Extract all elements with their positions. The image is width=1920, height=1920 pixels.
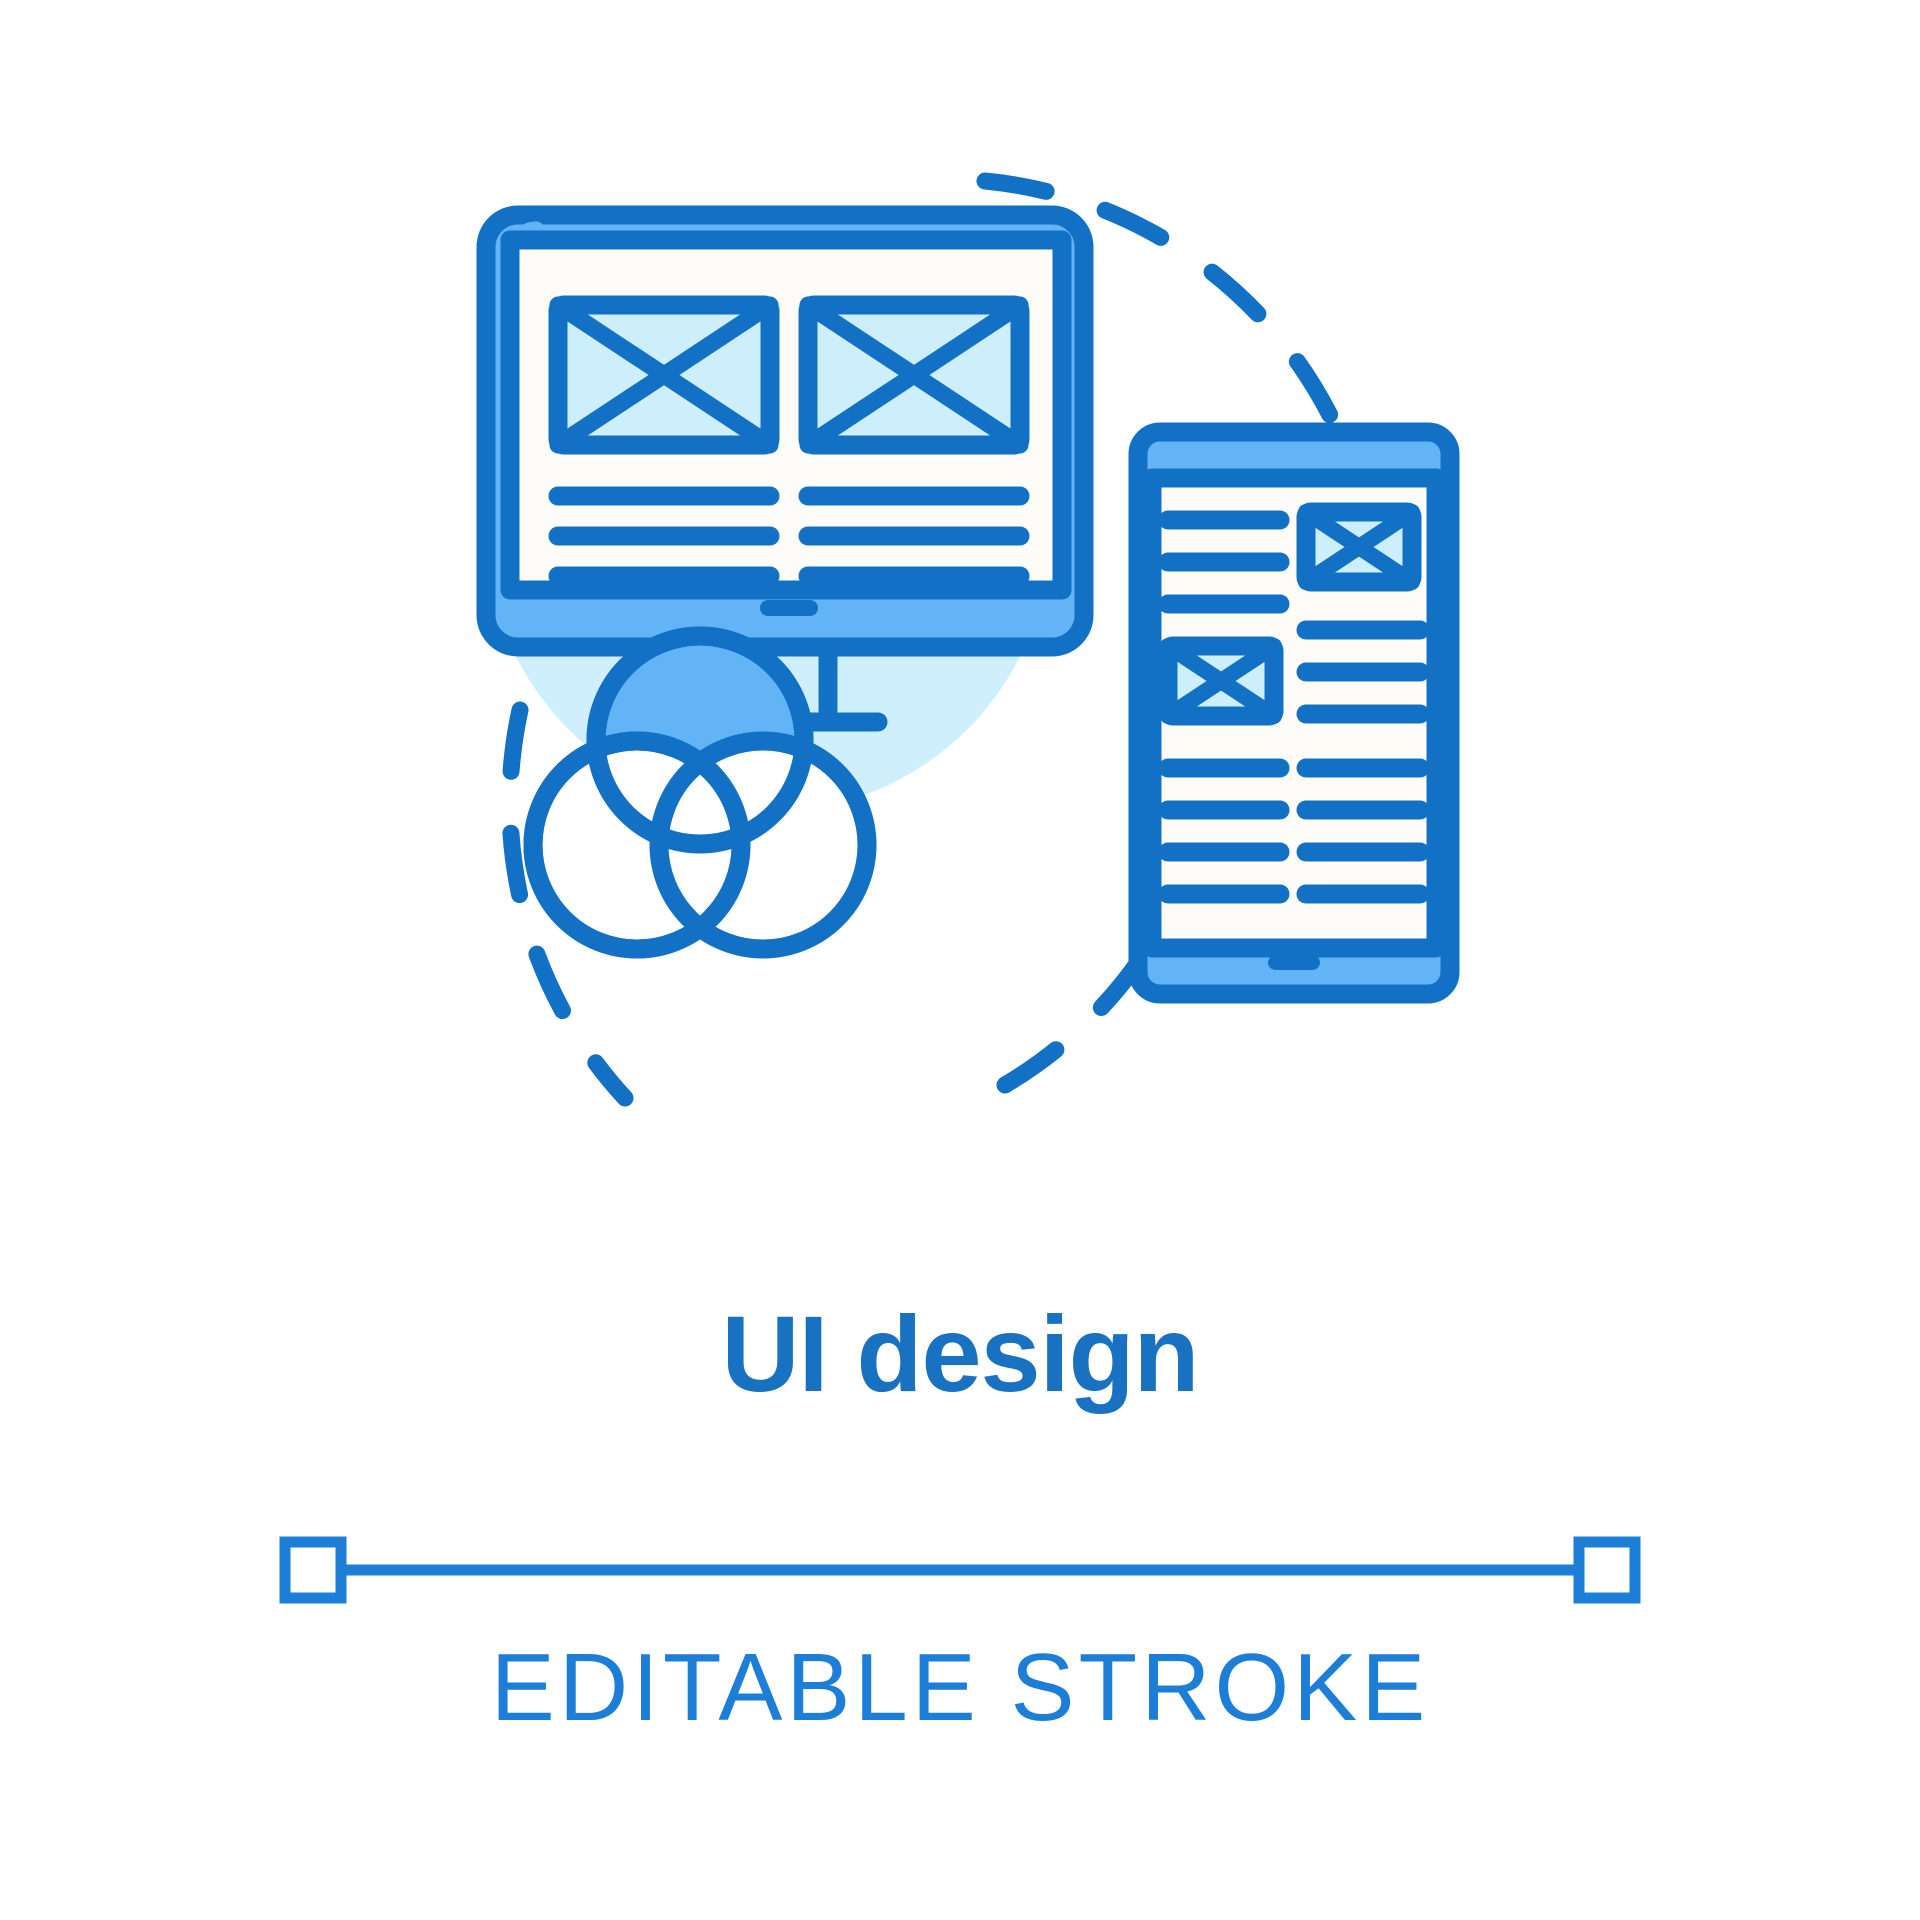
editable-stroke-caption: EDITABLE STROKE [0,1640,1920,1736]
monitor-image-block-left [558,305,770,445]
monitor-bezel-indicator [760,600,818,616]
editable-stroke-line [285,1542,1635,1598]
ui-design-concept-illustration [0,0,1920,1920]
desktop-monitor [486,215,1084,722]
smartphone [1138,432,1450,994]
phone-image-block-top [1306,512,1412,582]
stroke-handle-right[interactable] [1579,1542,1635,1598]
icon-canvas: UI design EDITABLE STROKE [0,0,1920,1920]
page-title: UI design [0,1300,1920,1408]
stroke-handle-left[interactable] [285,1542,341,1598]
phone-home-indicator [1268,955,1320,970]
phone-image-block-bottom [1168,646,1274,716]
monitor-image-block-right [808,305,1020,445]
